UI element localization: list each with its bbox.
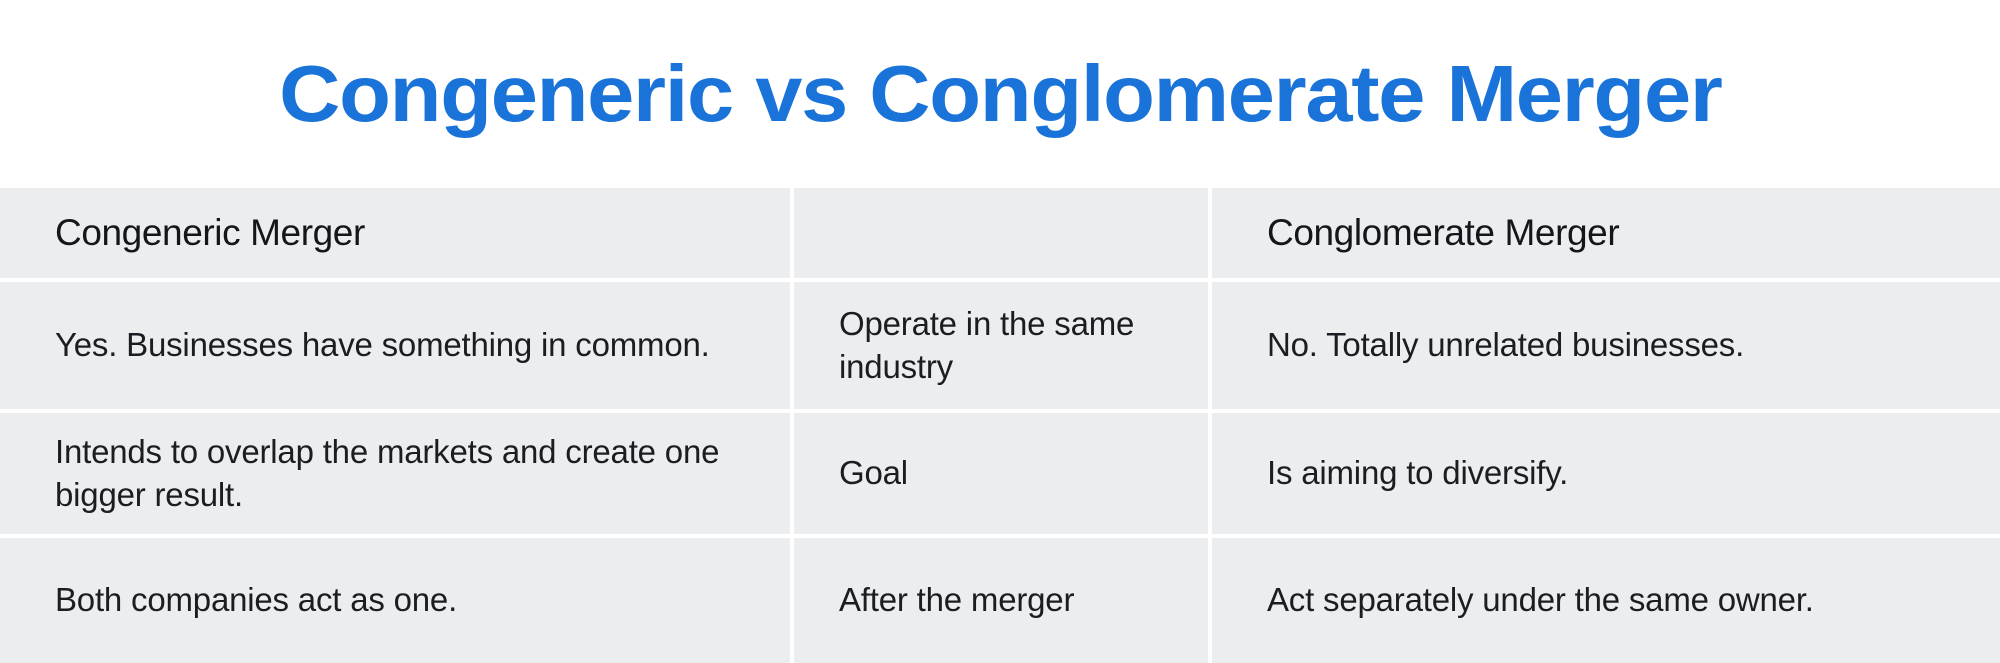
row-2-text-congeneric: Both companies act as one. — [55, 579, 742, 622]
row-2-text-attribute: After the merger — [839, 579, 1184, 622]
row-1-text-congeneric: Intends to overlap the markets and creat… — [55, 431, 742, 517]
row-2-text-conglomerate: Act separately under the same owner. — [1267, 579, 1960, 622]
table-row: Both companies act as one. After the mer… — [0, 538, 2000, 663]
comparison-table: Congeneric Merger Conglomerate Merger Ye… — [0, 188, 2000, 663]
row-0-cell-congeneric: Yes. Businesses have something in common… — [0, 282, 790, 409]
row-1-text-attribute: Goal — [839, 452, 1184, 495]
table-row: Yes. Businesses have something in common… — [0, 282, 2000, 409]
comparison-table-page: Congeneric vs Conglomerate Merger Congen… — [0, 0, 2000, 662]
row-1-cell-attribute: Goal — [794, 413, 1208, 534]
header-cell-attribute — [794, 188, 1208, 278]
header-label-congeneric: Congeneric Merger — [55, 212, 742, 255]
row-1-cell-congeneric: Intends to overlap the markets and creat… — [0, 413, 790, 534]
header-cell-congeneric: Congeneric Merger — [0, 188, 790, 278]
row-2-cell-conglomerate: Act separately under the same owner. — [1212, 538, 2000, 663]
row-0-text-congeneric: Yes. Businesses have something in common… — [55, 324, 742, 367]
row-2-cell-attribute: After the merger — [794, 538, 1208, 663]
row-0-text-attribute: Operate in the same industry — [839, 303, 1184, 389]
row-0-cell-attribute: Operate in the same industry — [794, 282, 1208, 409]
page-title-text: Congeneric vs Conglomerate Merger — [279, 54, 1721, 134]
header-cell-conglomerate: Conglomerate Merger — [1212, 188, 2000, 278]
row-0-cell-conglomerate: No. Totally unrelated businesses. — [1212, 282, 2000, 409]
row-1-text-conglomerate: Is aiming to diversify. — [1267, 452, 1960, 495]
row-2-cell-congeneric: Both companies act as one. — [0, 538, 790, 663]
table-header-row: Congeneric Merger Conglomerate Merger — [0, 188, 2000, 278]
row-0-text-conglomerate: No. Totally unrelated businesses. — [1267, 324, 1960, 367]
page-title: Congeneric vs Conglomerate Merger — [0, 0, 2000, 188]
row-1-cell-conglomerate: Is aiming to diversify. — [1212, 413, 2000, 534]
table-row: Intends to overlap the markets and creat… — [0, 413, 2000, 534]
header-label-conglomerate: Conglomerate Merger — [1267, 212, 1960, 255]
